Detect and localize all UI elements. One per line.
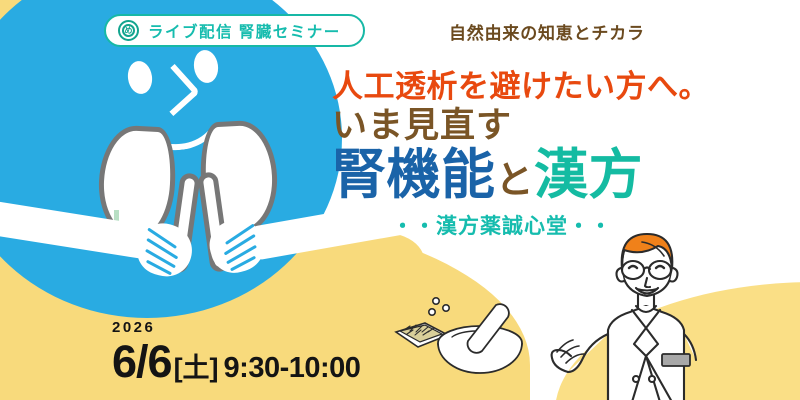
headline-block: 人工透析を避けたい方へ。 いま見直す 腎機能と漢方 ・・漢方薬誠心堂・・ <box>332 70 792 240</box>
live-stream-badge: め ライブ配信 腎臓セミナー <box>104 14 365 47</box>
mortar-and-pestle-illustration <box>370 285 540 385</box>
tagline-text: 自然由来の知恵とチカラ <box>449 19 645 44</box>
headline-conjunction: と <box>496 160 535 202</box>
kidney-mascot-illustration <box>0 0 342 318</box>
event-time: 9:30-10:00 <box>224 354 361 383</box>
event-day-of-week: [土] <box>174 355 219 382</box>
headline-line-3: 腎機能と漢方 <box>332 147 792 204</box>
brand-name: ・・漢方薬誠心堂・・ <box>332 210 792 240</box>
headline-line-1: 人工透析を避けたい方へ。 <box>332 70 792 103</box>
pharmacist-illustration <box>548 222 758 400</box>
seminar-banner: め ライブ配信 腎臓セミナー 自然由来の知恵とチカラ 人工透析を避けたい方へ。 … <box>0 0 800 400</box>
seal-circle-icon: め <box>118 20 139 41</box>
schedule-block: 2026 6/6 [土] 9:30-10:00 <box>112 320 360 384</box>
headline-keyword-kidney-function: 腎機能 <box>332 145 496 205</box>
name-tag <box>662 354 690 366</box>
event-date: 6/6 <box>112 339 172 384</box>
event-year: 2026 <box>112 320 360 335</box>
event-datetime: 6/6 [土] 9:30-10:00 <box>112 339 360 384</box>
seal-icon-glyph: め <box>125 27 133 35</box>
herb-dots-icon <box>429 298 449 315</box>
headline-keyword-kampo: 漢方 <box>534 145 643 205</box>
badge-label: ライブ配信 腎臓セミナー <box>148 20 341 42</box>
headline-line-2: いま見直す <box>332 107 792 145</box>
